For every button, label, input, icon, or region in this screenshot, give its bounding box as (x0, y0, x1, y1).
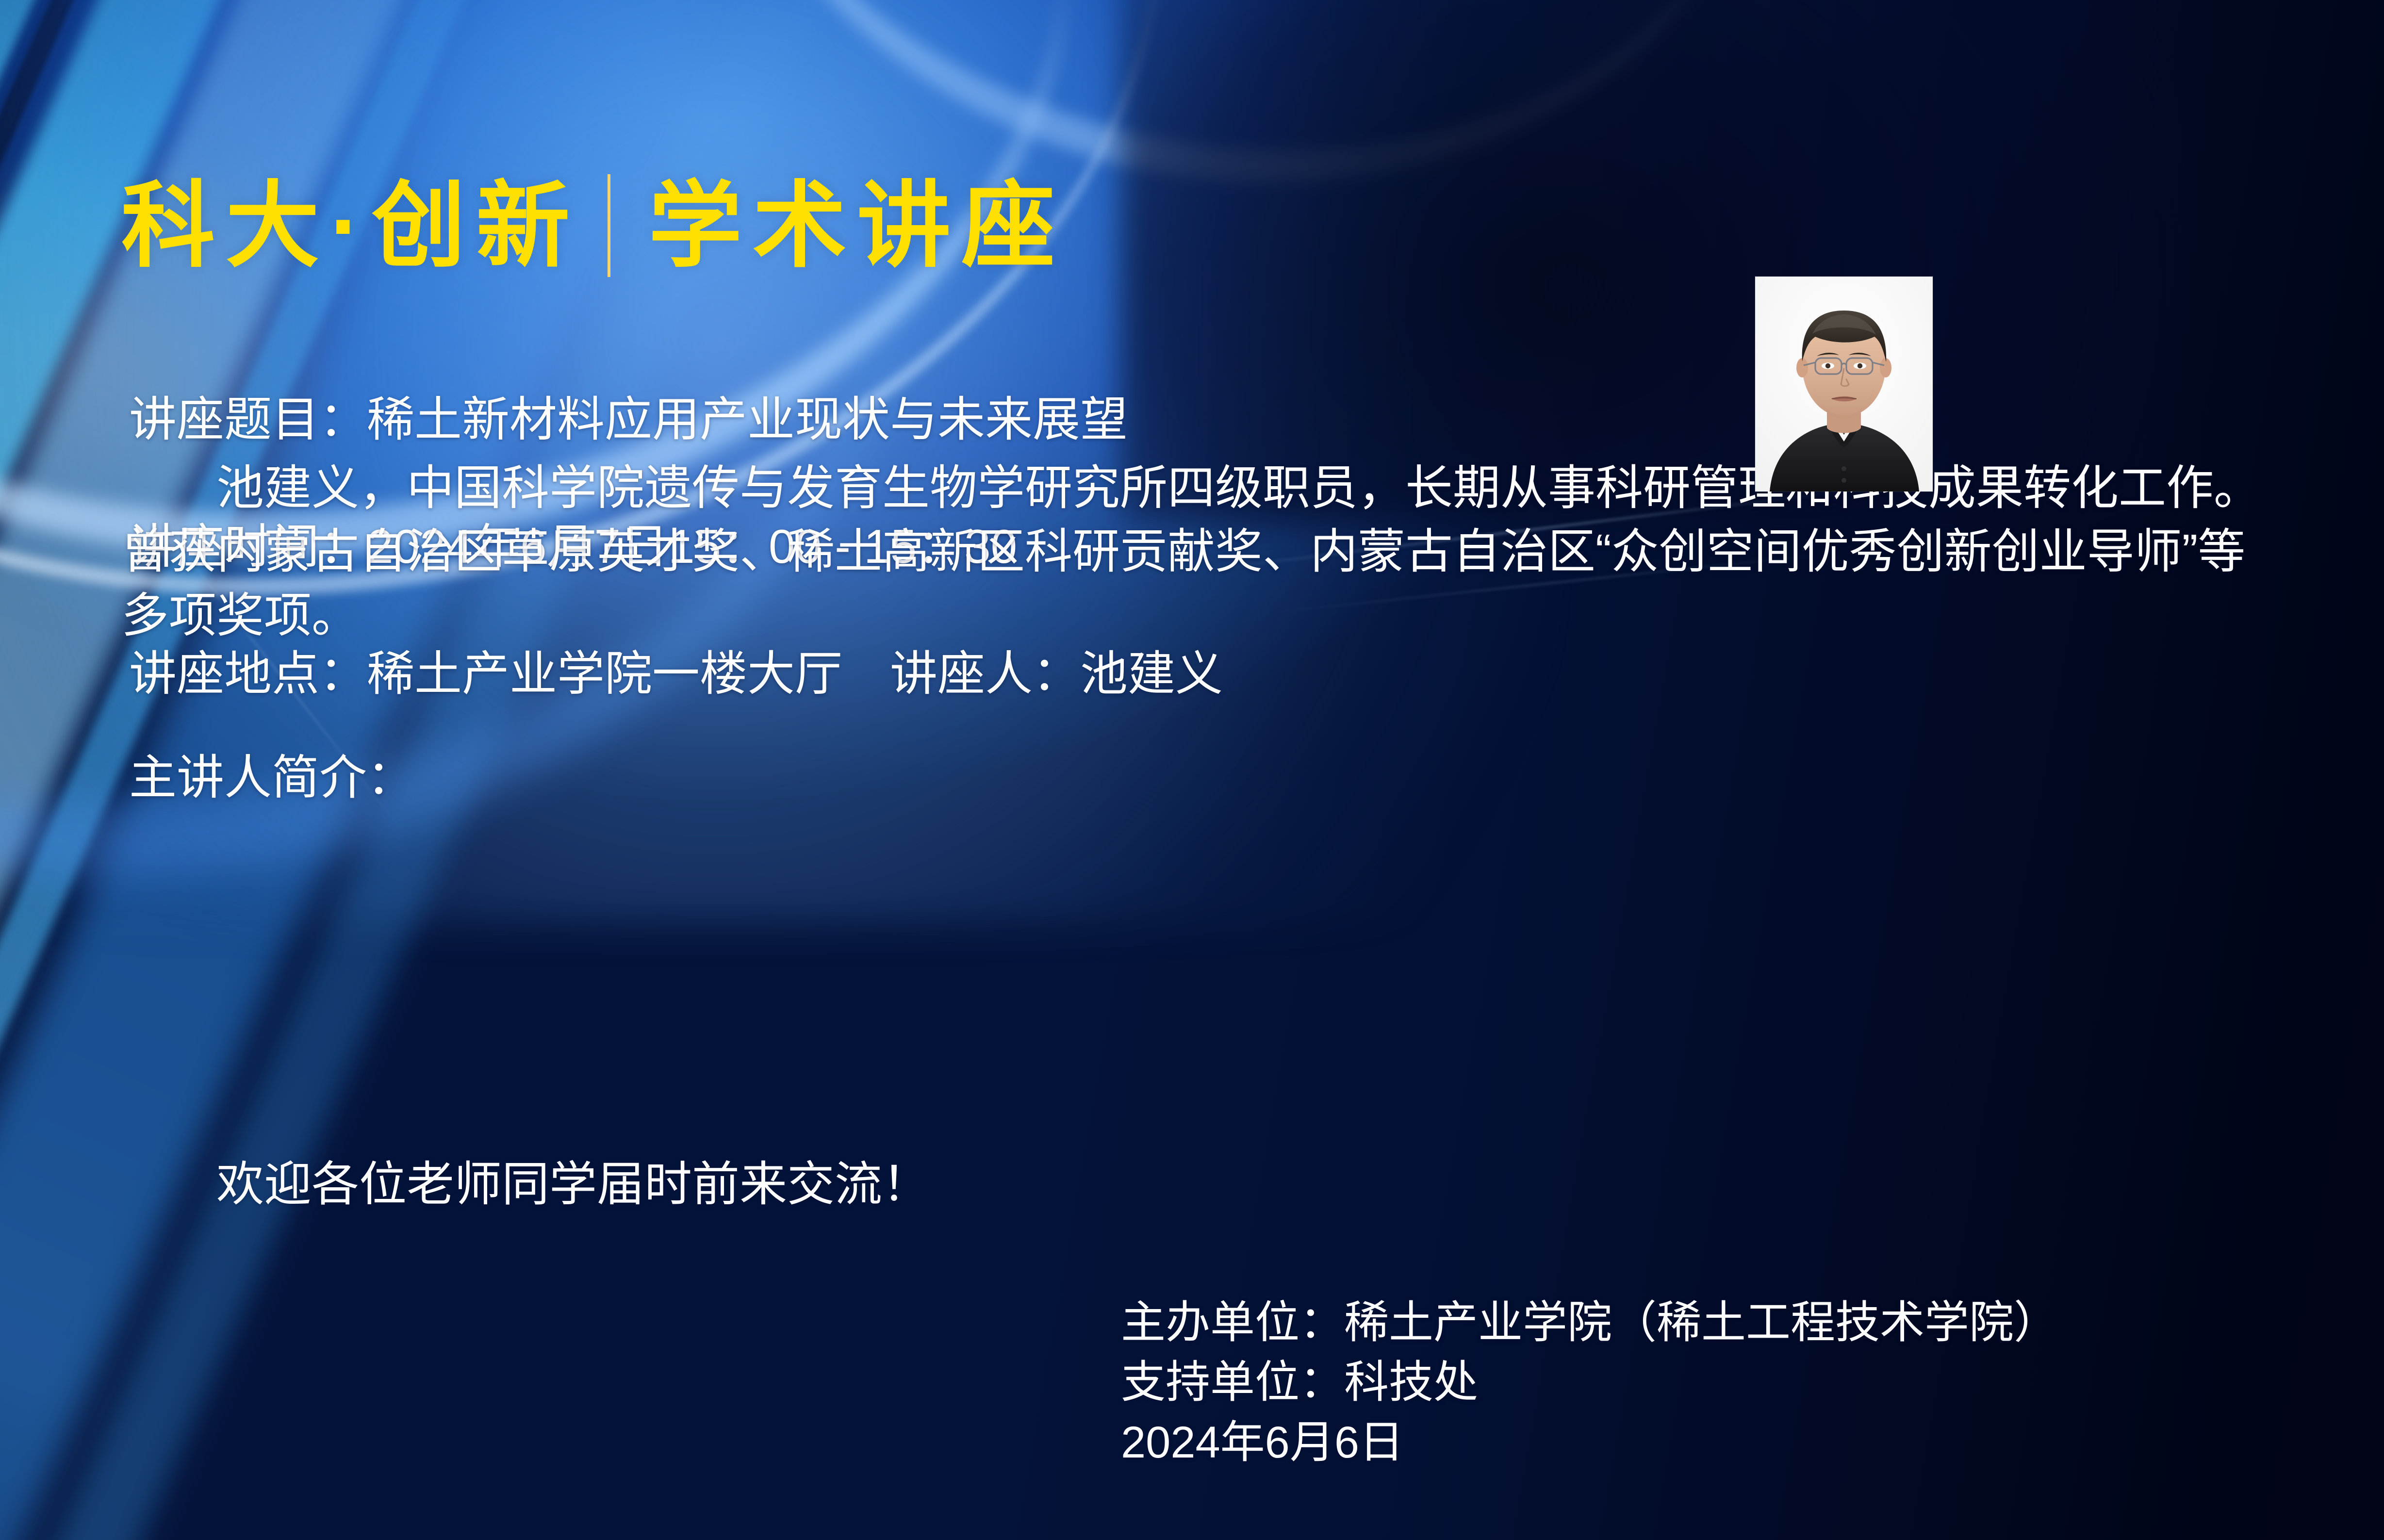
portrait-illustration (1755, 277, 1933, 491)
title-divider (608, 174, 610, 277)
poster-footer: 主办单位：稀土产业学院（稀土工程技术学院） 支持单位：科技处 2024年6月6日 (1121, 1293, 2058, 1473)
lecture-poster: 科大·创新 学术讲座 讲座题目：稀土新材料应用产业现状与未来展望 讲座时间：20… (0, 0, 2384, 1540)
welcome-line: 欢迎各位老师同学届时前来交流！ (121, 1156, 930, 1213)
poster-title: 科大·创新 学术讲座 (121, 160, 1066, 291)
speaker-portrait-photo (1755, 277, 1933, 491)
lecture-place-line: 讲座地点：稀土产业学院一楼大厅 讲座人：池建义 (129, 647, 1223, 701)
title-sub-text: 学术讲座 (648, 179, 1066, 273)
speaker-bio-heading: 主讲人简介： (129, 751, 414, 804)
speaker-bio-text: 池建义，中国科学院遗传与发育生物学研究所四级职员，长期从事科研管理和科技成果转化… (121, 456, 2266, 647)
lecture-topic-line: 讲座题目：稀土新材料应用产业现状与未来展望 (129, 393, 1128, 446)
footer-date: 2024年6月6日 (1121, 1413, 2058, 1473)
footer-supporter: 支持单位：科技处 (1121, 1353, 2058, 1412)
footer-organizer: 主办单位：稀土产业学院（稀土工程技术学院） (1121, 1293, 2058, 1353)
title-main-text: 科大·创新 (121, 179, 580, 273)
